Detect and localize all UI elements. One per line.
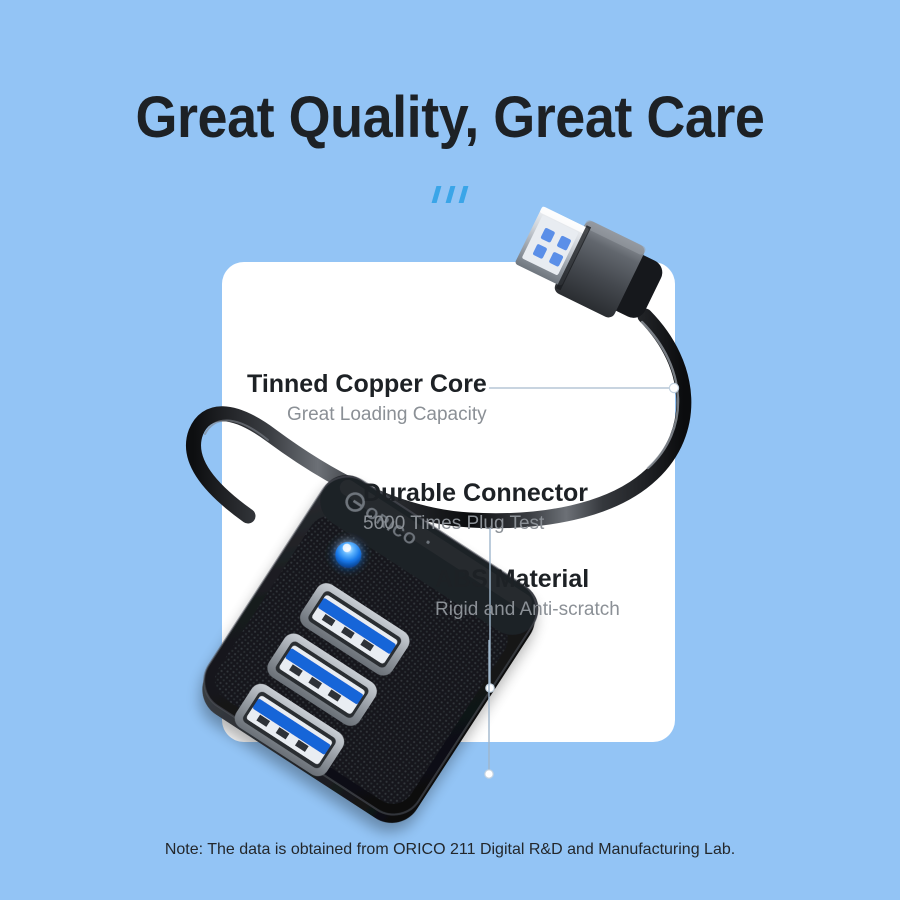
- callout-subtitle: Rigid and Anti-scratch: [435, 598, 620, 623]
- callout-durable-connector: Durable Connector 5000 Times Plug Test: [363, 479, 588, 536]
- footnote-text: Note: The data is obtained from ORICO 21…: [0, 841, 900, 859]
- product-illustration: ORICO: [0, 0, 900, 900]
- callout-title: Tinned Copper Core: [247, 370, 487, 399]
- callout-title: ABS Material: [435, 565, 620, 594]
- callout-subtitle: Great Loading Capacity: [287, 403, 487, 428]
- callout-title: Durable Connector: [363, 479, 588, 508]
- callout-abs-material: ABS Material Rigid and Anti-scratch: [435, 565, 620, 622]
- callout-subtitle: 5000 Times Plug Test: [363, 512, 588, 537]
- callout-tinned-copper-core: Tinned Copper Core Great Loading Capacit…: [247, 370, 487, 427]
- product-feature-banner: Great Quality, Great Care: [0, 0, 900, 900]
